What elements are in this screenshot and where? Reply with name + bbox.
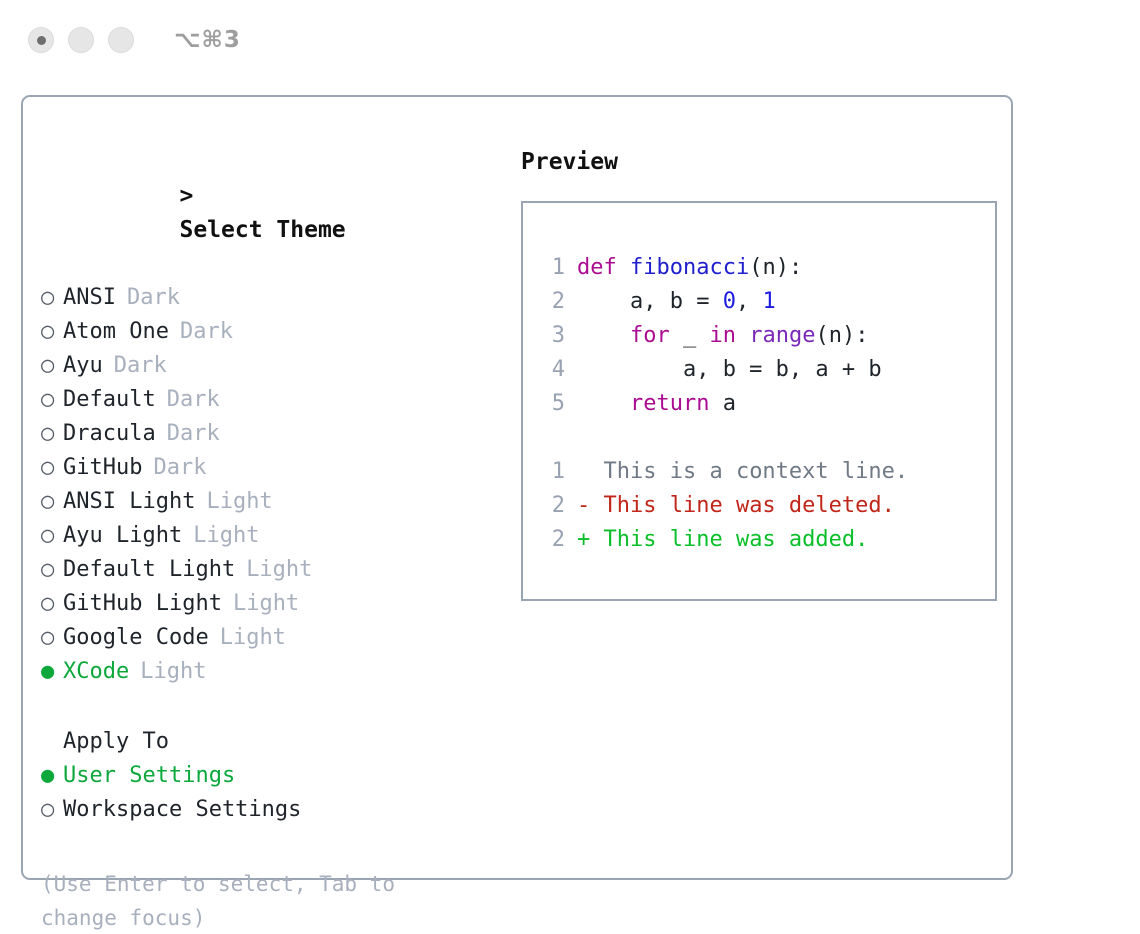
- theme-option-tag: Dark: [180, 315, 233, 349]
- diff-line-number: 2: [539, 523, 565, 557]
- code-line-number: 4: [539, 353, 565, 387]
- theme-option-tag: Light: [193, 519, 259, 553]
- theme-option-atom-one[interactable]: ○Atom OneDark: [41, 315, 503, 349]
- theme-option-label: Google Code: [63, 621, 209, 655]
- code-token-kw: in: [709, 323, 736, 348]
- code-line-text: def fibonacci(n):: [577, 251, 802, 285]
- radio-selected-icon[interactable]: ●: [41, 759, 63, 793]
- theme-option-dracula[interactable]: ○DraculaDark: [41, 417, 503, 451]
- app-window: ⌥⌘3 > Select Theme ○ANSIDark○Atom OneDar…: [0, 0, 1140, 934]
- radio-unselected-icon[interactable]: ○: [41, 553, 63, 587]
- code-line-number: 1: [539, 251, 565, 285]
- code-line-number: 5: [539, 387, 565, 421]
- code-token-plain: (n):: [815, 323, 868, 348]
- theme-option-ayu-light[interactable]: ○Ayu LightLight: [41, 519, 503, 553]
- radio-unselected-icon[interactable]: ○: [41, 383, 63, 417]
- theme-option-ansi[interactable]: ○ANSIDark: [41, 281, 503, 315]
- theme-option-tag: Dark: [153, 451, 206, 485]
- radio-unselected-icon[interactable]: ○: [41, 281, 63, 315]
- record-dot-icon: [37, 36, 46, 45]
- theme-option-xcode[interactable]: ●XCodeLight: [41, 655, 503, 689]
- diff-marker-ctx: [577, 455, 590, 489]
- diff-line-number: 1: [539, 455, 565, 489]
- theme-option-ansi-light[interactable]: ○ANSI LightLight: [41, 485, 503, 519]
- apply-to-option-user-settings[interactable]: ●User Settings: [41, 759, 503, 793]
- theme-option-label: Atom One: [63, 315, 169, 349]
- code-token-kw: return: [630, 391, 709, 416]
- theme-option-tag: Light: [220, 621, 286, 655]
- radio-unselected-icon[interactable]: ○: [41, 587, 63, 621]
- theme-option-github[interactable]: ○GitHubDark: [41, 451, 503, 485]
- diff-line-text: This is a context line.: [590, 455, 908, 489]
- theme-option-tag: Light: [246, 553, 312, 587]
- diff-line-text: This line was added.: [590, 523, 868, 557]
- diff-marker-add: +: [577, 523, 590, 557]
- theme-option-label: GitHub: [63, 451, 142, 485]
- theme-option-label: Ayu: [63, 349, 103, 383]
- radio-unselected-icon[interactable]: ○: [41, 349, 63, 383]
- code-token-plain: _: [670, 323, 710, 348]
- theme-option-tag: Dark: [127, 281, 180, 315]
- code-token-plain: a, b =: [577, 289, 723, 314]
- diff-line: 1 This is a context line.: [539, 455, 995, 489]
- code-line: 5 return a: [539, 387, 995, 421]
- hint-line-1: (Use Enter to select, Tab to: [41, 867, 451, 901]
- apply-to-header: Apply To: [41, 725, 503, 759]
- code-line-number: 2: [539, 285, 565, 319]
- theme-option-google-code[interactable]: ○Google CodeLight: [41, 621, 503, 655]
- apply-to-option-workspace-settings[interactable]: ○Workspace Settings: [41, 793, 503, 827]
- code-token-plain: (n):: [749, 255, 802, 280]
- code-line: 4 a, b = b, a + b: [539, 353, 995, 387]
- apply-to-option-label: User Settings: [63, 759, 235, 793]
- code-line-text: for _ in range(n):: [577, 319, 868, 353]
- theme-option-label: Ayu Light: [63, 519, 182, 553]
- code-token-plain: a, b = b, a + b: [577, 357, 882, 382]
- code-line: 1def fibonacci(n):: [539, 251, 995, 285]
- radio-unselected-icon[interactable]: ○: [41, 793, 63, 827]
- preview-column: Preview 1def fibonacci(n):2 a, b = 0, 13…: [521, 145, 1001, 601]
- code-token-call: range: [749, 323, 815, 348]
- theme-option-label: Default: [63, 383, 156, 417]
- theme-option-tag: Light: [140, 655, 206, 689]
- radio-selected-icon[interactable]: ●: [41, 655, 63, 689]
- code-preview-block: 1def fibonacci(n):2 a, b = 0, 13 for _ i…: [539, 251, 995, 421]
- keyboard-hint-text: (Use Enter to select, Tab to change focu…: [41, 867, 451, 934]
- main-panel: > Select Theme ○ANSIDark○Atom OneDark○Ay…: [21, 95, 1013, 880]
- code-line-text: a, b = b, a + b: [577, 353, 882, 387]
- apply-to-option-label: Workspace Settings: [63, 793, 301, 827]
- theme-option-label: ANSI Light: [63, 485, 195, 519]
- select-theme-label: Select Theme: [179, 217, 345, 243]
- theme-option-default-light[interactable]: ○Default LightLight: [41, 553, 503, 587]
- theme-option-default[interactable]: ○DefaultDark: [41, 383, 503, 417]
- code-token-plain: a: [709, 391, 736, 416]
- diff-marker-del: -: [577, 489, 590, 523]
- theme-option-label: XCode: [63, 655, 129, 689]
- hint-line-2: change focus): [41, 901, 451, 934]
- theme-selector-column: > Select Theme ○ANSIDark○Atom OneDark○Ay…: [41, 145, 503, 934]
- radio-unselected-icon[interactable]: ○: [41, 451, 63, 485]
- theme-option-tag: Light: [206, 485, 272, 519]
- theme-option-label: Dracula: [63, 417, 156, 451]
- radio-unselected-icon[interactable]: ○: [41, 485, 63, 519]
- code-token-kw: def: [577, 255, 630, 280]
- code-line-number: 3: [539, 319, 565, 353]
- apply-to-list: ●User Settings○Workspace Settings: [41, 759, 503, 827]
- titlebar: ⌥⌘3: [0, 0, 1140, 80]
- keyboard-shortcut-label: ⌥⌘3: [174, 27, 241, 53]
- minimize-button[interactable]: [68, 27, 94, 53]
- radio-unselected-icon[interactable]: ○: [41, 621, 63, 655]
- code-line: 2 a, b = 0, 1: [539, 285, 995, 319]
- theme-option-label: ANSI: [63, 281, 116, 315]
- theme-list: ○ANSIDark○Atom OneDark○AyuDark○DefaultDa…: [41, 281, 503, 689]
- code-token-fn: fibonacci: [630, 255, 749, 280]
- apply-to-section: Apply To ●User Settings○Workspace Settin…: [41, 725, 503, 827]
- diff-line-text: This line was deleted.: [590, 489, 895, 523]
- code-token-num: 0: [723, 289, 736, 314]
- code-line-text: return a: [577, 387, 736, 421]
- preview-spacer: [539, 421, 995, 455]
- theme-option-label: GitHub Light: [63, 587, 222, 621]
- preview-box: 1def fibonacci(n):2 a, b = 0, 13 for _ i…: [521, 201, 997, 601]
- preview-title: Preview: [521, 145, 1001, 179]
- diff-preview-block: 1 This is a context line.2- This line wa…: [539, 455, 995, 557]
- theme-option-tag: Light: [233, 587, 299, 621]
- prompt-caret-icon: >: [179, 183, 193, 209]
- theme-option-ayu[interactable]: ○AyuDark: [41, 349, 503, 383]
- maximize-button[interactable]: [108, 27, 134, 53]
- diff-line-number: 2: [539, 489, 565, 523]
- diff-line: 2+ This line was added.: [539, 523, 995, 557]
- diff-line: 2- This line was deleted.: [539, 489, 995, 523]
- code-token-num: 1: [762, 289, 775, 314]
- record-button[interactable]: [28, 27, 54, 53]
- theme-option-github-light[interactable]: ○GitHub LightLight: [41, 587, 503, 621]
- select-theme-header: > Select Theme: [41, 145, 503, 281]
- panel-body: > Select Theme ○ANSIDark○Atom OneDark○Ay…: [23, 97, 1011, 878]
- theme-option-tag: Dark: [167, 417, 220, 451]
- theme-option-tag: Dark: [167, 383, 220, 417]
- theme-option-tag: Dark: [114, 349, 167, 383]
- radio-unselected-icon[interactable]: ○: [41, 315, 63, 349]
- code-token-plain: [577, 323, 630, 348]
- radio-unselected-icon[interactable]: ○: [41, 417, 63, 451]
- code-token-plain: ,: [736, 289, 763, 314]
- code-line-text: a, b = 0, 1: [577, 285, 776, 319]
- code-token-plain: [577, 391, 630, 416]
- code-line: 3 for _ in range(n):: [539, 319, 995, 353]
- radio-unselected-icon[interactable]: ○: [41, 519, 63, 553]
- theme-option-label: Default Light: [63, 553, 235, 587]
- code-token-plain: [736, 323, 749, 348]
- code-token-kw: for: [630, 323, 670, 348]
